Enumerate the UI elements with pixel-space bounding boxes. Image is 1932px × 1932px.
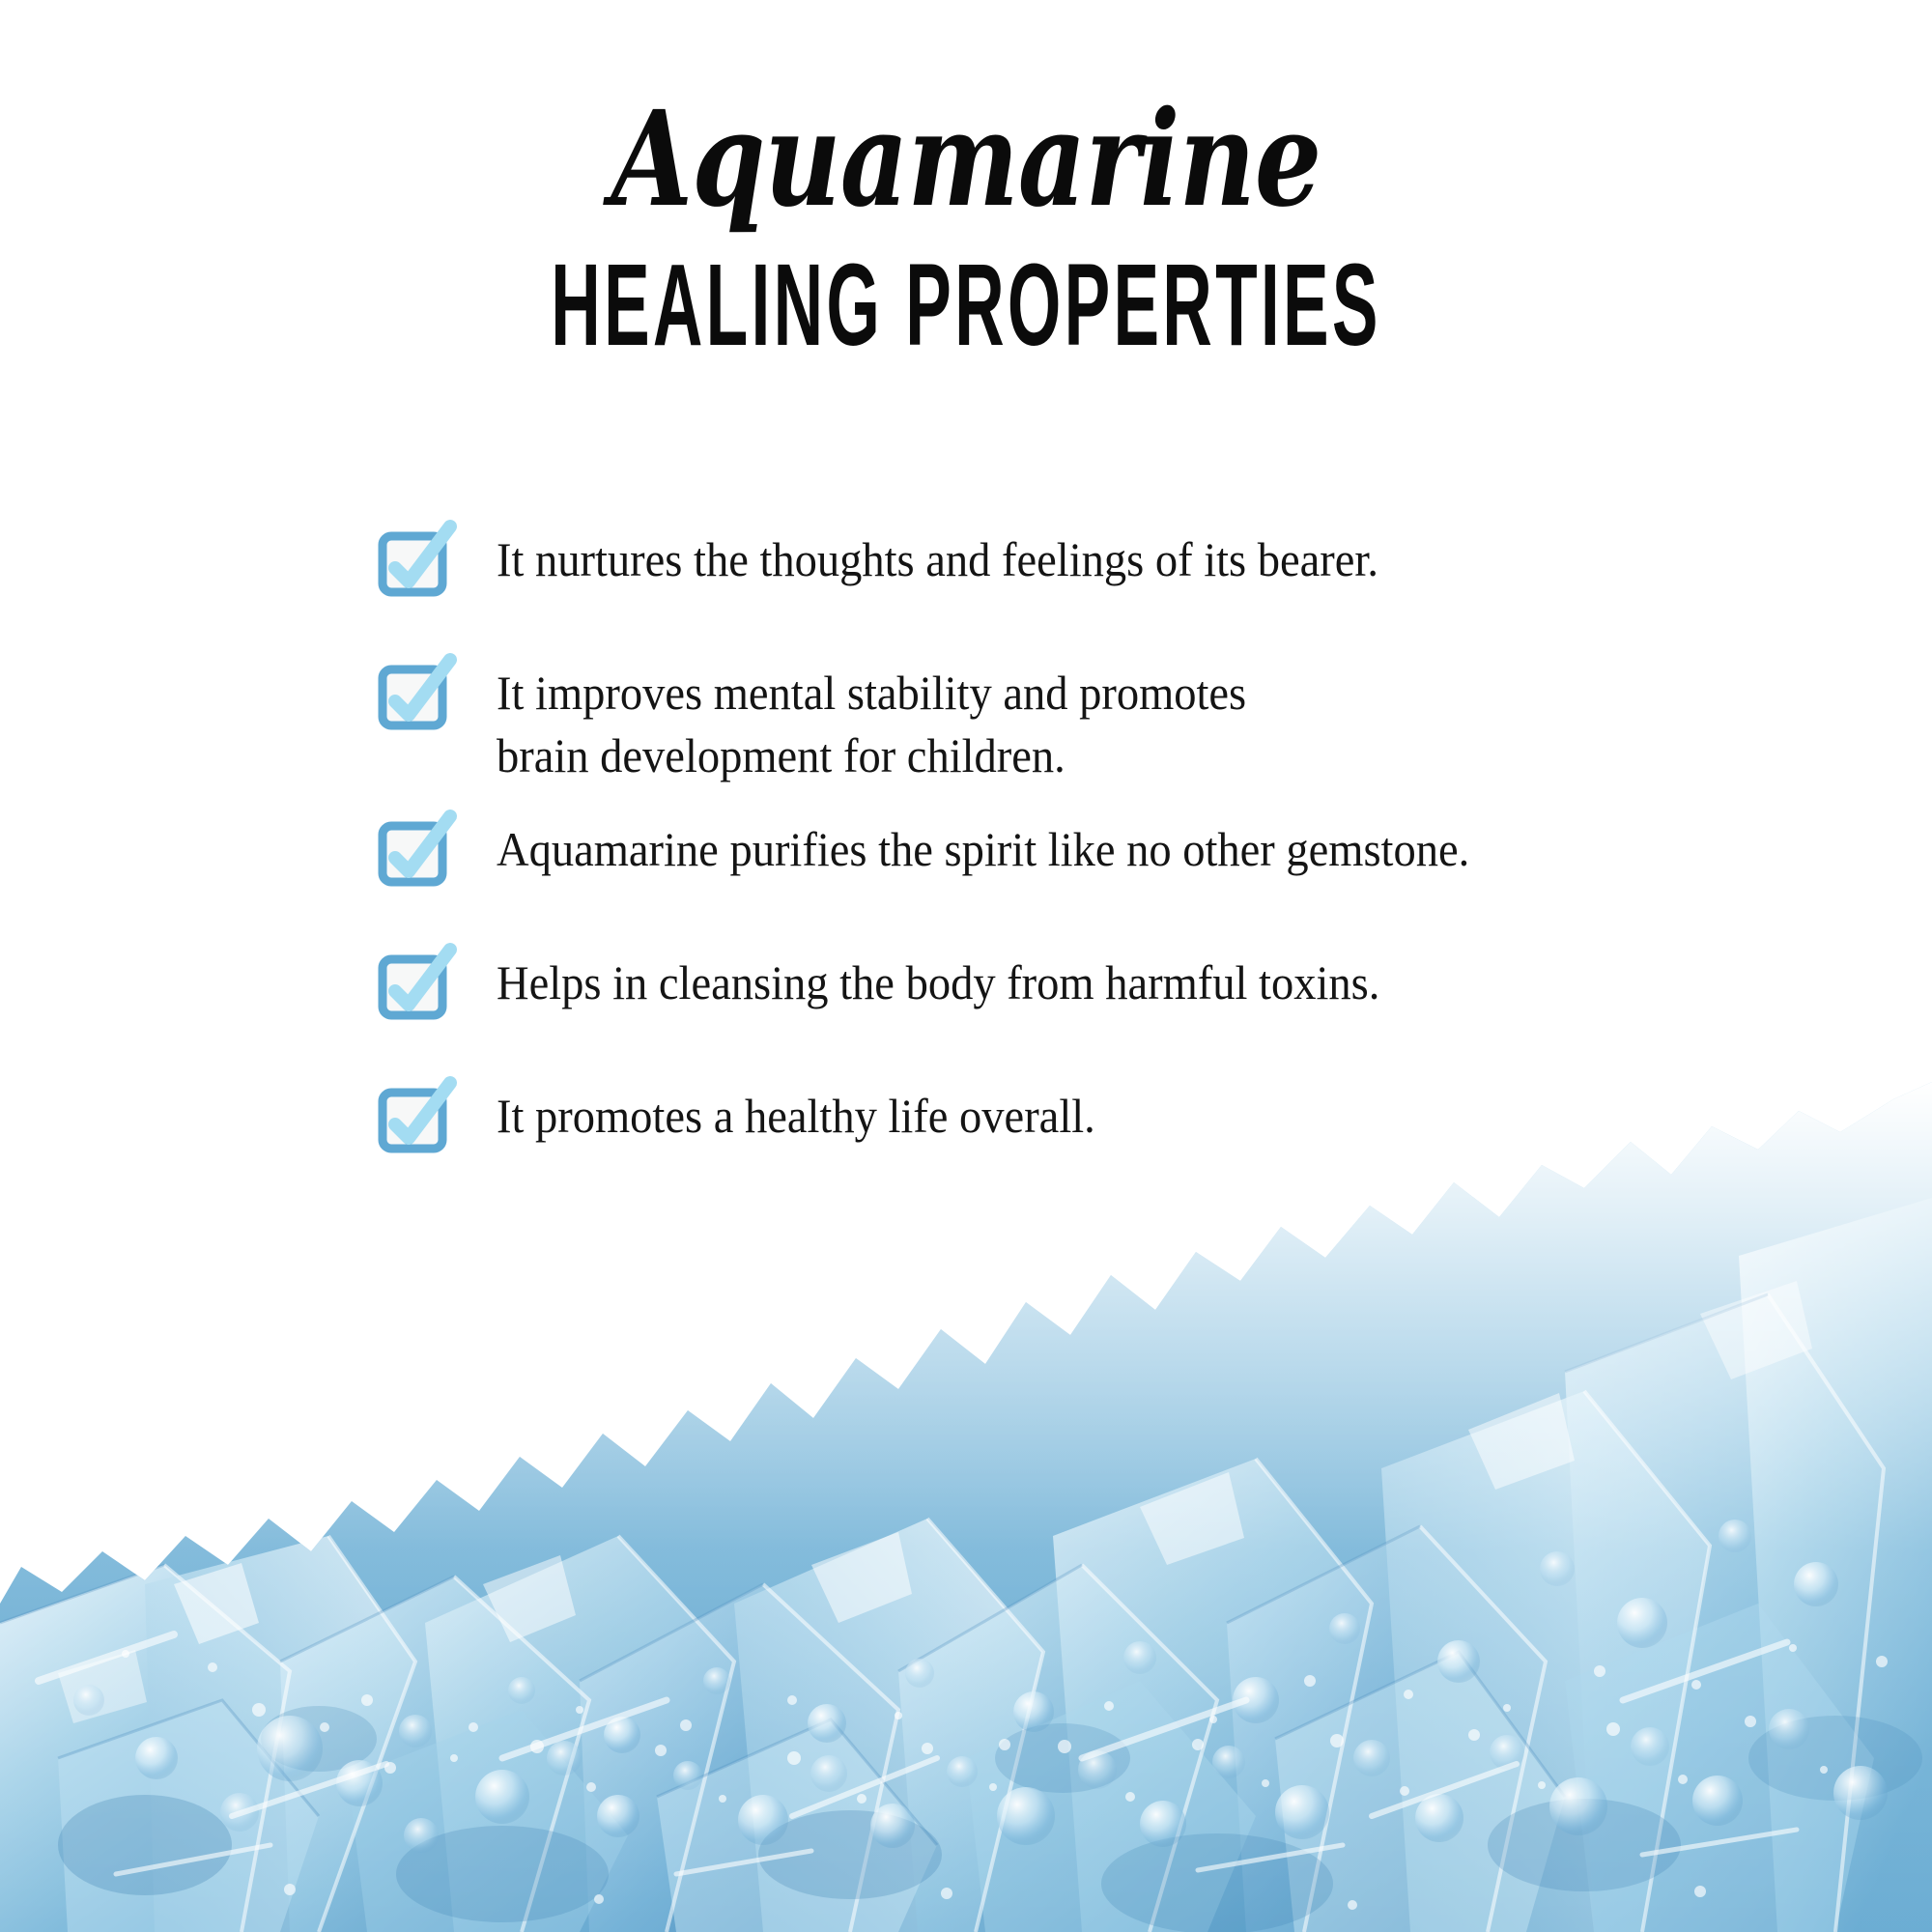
poster-header: Aquamarine HEALING PROPERTIES	[0, 0, 1932, 351]
page-title: Aquamarine	[193, 93, 1739, 227]
list-item-label: It promotes a healthy life overall.	[497, 1083, 1095, 1148]
list-item: Aquamarine purifies the spirit like no o…	[379, 816, 1750, 888]
page-subtitle: HEALING PROPERTIES	[328, 246, 1604, 363]
checkbox-checked-icon	[379, 818, 454, 888]
list-item: Helps in cleansing the body from harmful…	[379, 950, 1750, 1021]
list-item-label: It nurtures the thoughts and feelings of…	[497, 526, 1378, 591]
checkbox-checked-icon	[379, 528, 454, 598]
healing-properties-list: It nurtures the thoughts and feelings of…	[379, 526, 1750, 1216]
list-item: It promotes a healthy life overall.	[379, 1083, 1750, 1154]
list-item-label: Helps in cleansing the body from harmful…	[497, 950, 1379, 1014]
checkbox-checked-icon	[379, 662, 454, 731]
poster-canvas: Aquamarine HEALING PROPERTIES It nurture…	[0, 0, 1932, 1932]
checkbox-checked-icon	[379, 1085, 454, 1154]
checkbox-checked-icon	[379, 952, 454, 1021]
list-item: It nurtures the thoughts and feelings of…	[379, 526, 1750, 598]
list-item-label: It improves mental stability and promote…	[497, 660, 1246, 787]
list-item-label: Aquamarine purifies the spirit like no o…	[497, 816, 1469, 881]
list-item: It improves mental stability and promote…	[379, 660, 1750, 787]
